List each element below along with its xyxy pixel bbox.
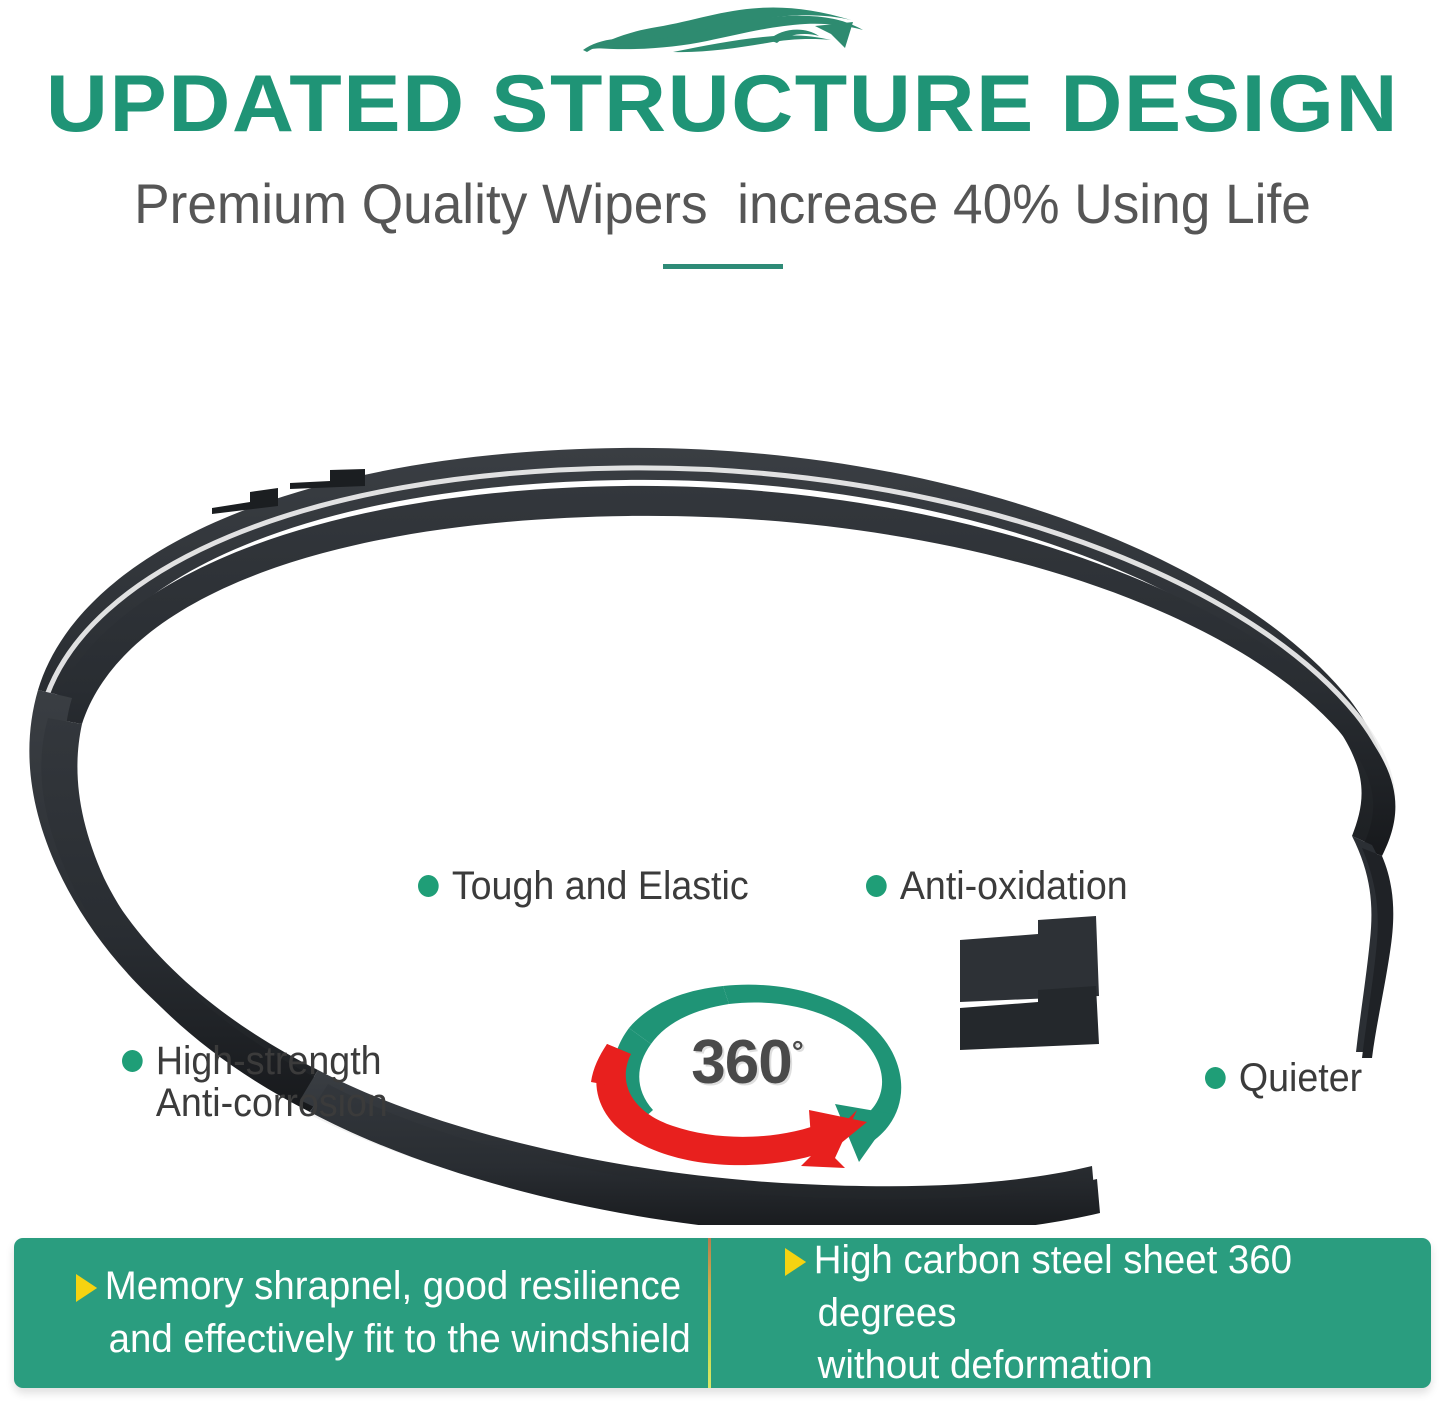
callout-label: High-strength Anti-corrosion xyxy=(156,1040,388,1124)
bullet-dot-icon xyxy=(122,1050,143,1072)
callout-label: Anti-oxidation xyxy=(900,865,1128,907)
banner-left-label: Memory shrapnel, good resilience and eff… xyxy=(105,1264,691,1361)
car-silhouette-icon xyxy=(573,4,873,62)
page-title: UPDATED STRUCTURE DESIGN xyxy=(0,64,1445,145)
triangle-bullet-icon xyxy=(76,1274,97,1302)
banner-left-text: Memory shrapnel, good resilience and eff… xyxy=(76,1260,691,1366)
callout-high-strength-anti-corrosion: High-strength Anti-corrosion xyxy=(122,1040,388,1124)
callout-label: Quieter xyxy=(1239,1057,1362,1099)
bullet-dot-icon xyxy=(866,875,887,897)
callout-quieter: Quieter xyxy=(1205,1057,1362,1099)
title-divider-rule xyxy=(663,264,783,269)
degree-symbol: ° xyxy=(792,1035,803,1068)
banner-cell-right: High carbon steel sheet 360 degrees with… xyxy=(723,1238,1432,1388)
bottom-feature-banner: Memory shrapnel, good resilience and eff… xyxy=(14,1238,1431,1388)
badge-value: 360 xyxy=(691,1028,791,1097)
badge-360-label: 360° xyxy=(573,1032,921,1094)
header-section: UPDATED STRUCTURE DESIGN Premium Quality… xyxy=(0,0,1445,300)
callout-label: Tough and Elastic xyxy=(452,865,749,907)
banner-vertical-divider xyxy=(708,1238,711,1388)
banner-right-label: High carbon steel sheet 360 degrees with… xyxy=(813,1238,1291,1387)
badge-360-degree: 360° xyxy=(573,962,921,1170)
triangle-bullet-icon xyxy=(785,1248,806,1276)
bullet-dot-icon xyxy=(418,875,439,897)
bullet-dot-icon xyxy=(1205,1067,1226,1089)
callout-tough-and-elastic: Tough and Elastic xyxy=(418,865,749,907)
product-image-area: Tough and Elastic Anti-oxidation High-st… xyxy=(0,300,1445,1225)
page-subtitle: Premium Quality Wipers increase 40% Usin… xyxy=(36,176,1409,232)
banner-cell-left: Memory shrapnel, good resilience and eff… xyxy=(14,1238,723,1388)
banner-right-text: High carbon steel sheet 360 degrees with… xyxy=(785,1238,1406,1388)
callout-anti-oxidation: Anti-oxidation xyxy=(866,865,1128,907)
